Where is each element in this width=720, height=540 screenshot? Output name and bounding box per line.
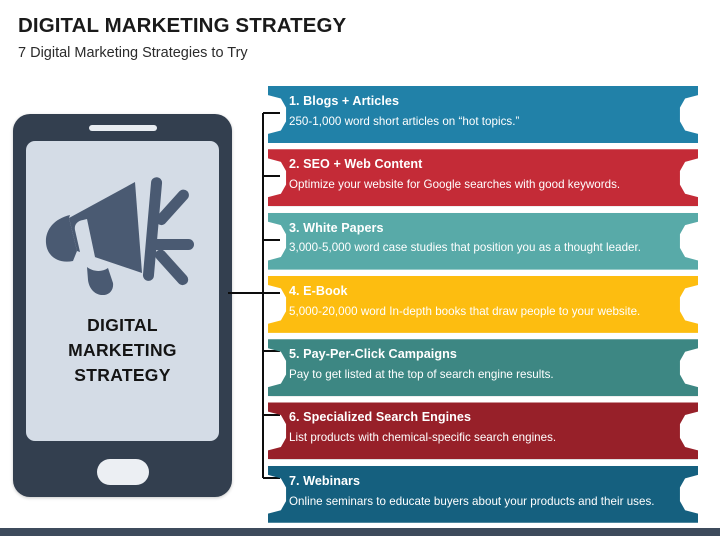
page-title: DIGITAL MARKETING STRATEGY	[18, 14, 618, 38]
strategy-item-3[interactable]: 3. White Papers 3,000-5,000 word case st…	[268, 213, 698, 270]
phone-speaker-icon	[89, 125, 157, 131]
strategy-title: 2. SEO + Web Content	[289, 157, 684, 173]
page-subtitle: 7 Digital Marketing Strategies to Try	[18, 45, 618, 62]
strategy-title: 6. Specialized Search Engines	[289, 410, 684, 426]
phone-home-button-icon	[97, 459, 149, 485]
slide-header: DIGITAL MARKETING STRATEGY 7 Digital Mar…	[18, 14, 618, 62]
phone-caption-line-3: STRATEGY	[26, 363, 219, 388]
strategy-list: 1. Blogs + Articles 250-1,000 word short…	[268, 86, 698, 529]
strategy-item-4[interactable]: 4. E-Book 5,000-20,000 word In-depth boo…	[268, 276, 698, 333]
strategy-description: 250-1,000 word short articles on “hot to…	[289, 115, 684, 129]
strategy-description: 3,000-5,000 word case studies that posit…	[289, 241, 684, 255]
strategy-description: Pay to get listed at the top of search e…	[289, 368, 684, 382]
slide-canvas: DIGITAL MARKETING STRATEGY 7 Digital Mar…	[0, 0, 720, 540]
strategy-title: 5. Pay-Per-Click Campaigns	[289, 347, 684, 363]
smartphone-illustration: DIGITAL MARKETING STRATEGY	[13, 114, 232, 497]
strategy-item-6[interactable]: 6. Specialized Search Engines List produ…	[268, 402, 698, 459]
megaphone-icon	[39, 163, 207, 295]
phone-caption-line-2: MARKETING	[26, 338, 219, 363]
strategy-item-2[interactable]: 2. SEO + Web Content Optimize your websi…	[268, 149, 698, 206]
strategy-title: 7. Webinars	[289, 474, 684, 490]
phone-caption-line-1: DIGITAL	[26, 313, 219, 338]
bottom-strip	[0, 528, 720, 536]
strategy-description: List products with chemical-specific sea…	[289, 431, 684, 445]
phone-screen: DIGITAL MARKETING STRATEGY	[26, 141, 219, 441]
strategy-description: 5,000-20,000 word In-depth books that dr…	[289, 305, 684, 319]
strategy-description: Online seminars to educate buyers about …	[289, 495, 684, 509]
strategy-item-7[interactable]: 7. Webinars Online seminars to educate b…	[268, 466, 698, 523]
strategy-title: 1. Blogs + Articles	[289, 94, 684, 110]
strategy-item-5[interactable]: 5. Pay-Per-Click Campaigns Pay to get li…	[268, 339, 698, 396]
strategy-item-1[interactable]: 1. Blogs + Articles 250-1,000 word short…	[268, 86, 698, 143]
strategy-title: 4. E-Book	[289, 284, 684, 300]
phone-caption: DIGITAL MARKETING STRATEGY	[26, 313, 219, 388]
strategy-title: 3. White Papers	[289, 221, 684, 237]
strategy-description: Optimize your website for Google searche…	[289, 178, 684, 192]
